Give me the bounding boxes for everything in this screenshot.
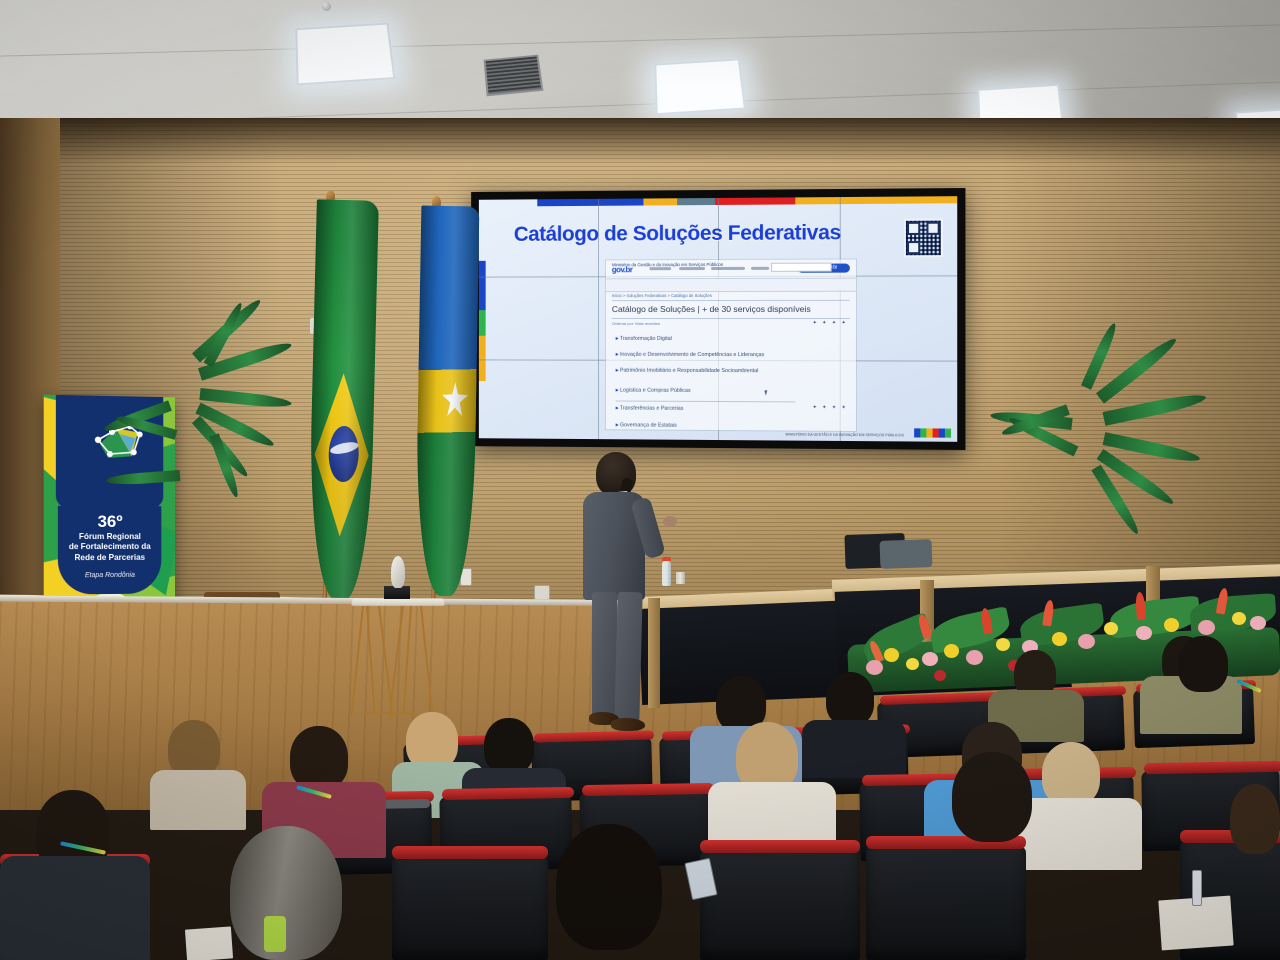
flower-yellow bbox=[1052, 632, 1067, 646]
site-search-input[interactable] bbox=[771, 262, 832, 271]
ministry-footer-logo: MINISTÉRIO DA GESTÃO E DA INOVAÇÃO EM SE… bbox=[785, 432, 903, 437]
slide-border-red bbox=[715, 197, 795, 205]
seat bbox=[700, 850, 860, 960]
flower-yellow bbox=[1104, 622, 1118, 635]
seat-rail bbox=[700, 840, 860, 853]
seat-rail bbox=[442, 787, 574, 800]
banner-text-panel: 36º Fórum Regional de Fortalecimento da … bbox=[58, 506, 161, 595]
flower-yellow bbox=[884, 648, 899, 662]
divider bbox=[612, 300, 850, 301]
banner-title-line3: Rede de Parcerias bbox=[58, 552, 161, 563]
presenter-hand bbox=[663, 516, 677, 527]
auditorium-photo: Catálogo de Soluções Federativas gov.br … bbox=[0, 0, 1280, 960]
seat-rail bbox=[1144, 761, 1280, 774]
flower-yellow bbox=[1164, 618, 1179, 632]
attendee-body bbox=[1018, 798, 1142, 870]
flag-rondonia bbox=[415, 206, 480, 597]
side-table-top bbox=[351, 598, 444, 605]
table-leg bbox=[648, 598, 660, 708]
attendee-body bbox=[0, 856, 150, 960]
flower-yellow bbox=[944, 644, 959, 658]
slide-title: Catálogo de Soluções Federativas bbox=[514, 221, 913, 247]
slide-edge-blue bbox=[479, 261, 486, 310]
breadcrumb: Início > Soluções Federativas > Catálogo… bbox=[612, 293, 712, 298]
ministry-subbar bbox=[606, 278, 856, 293]
attendee-head bbox=[556, 824, 662, 950]
divider bbox=[616, 400, 796, 402]
share-icons[interactable]: ✦ ✦ ✦ ✦ bbox=[813, 320, 848, 326]
ceiling-light bbox=[654, 59, 746, 116]
water-bottle bbox=[662, 561, 671, 586]
slide-border-grey bbox=[677, 198, 715, 205]
flag-brazil bbox=[307, 199, 379, 600]
attendee-head bbox=[230, 826, 342, 960]
solution-item[interactable]: ▸ Transferências e Parcerias bbox=[616, 405, 684, 411]
flower-red bbox=[934, 670, 946, 681]
hair-clip bbox=[264, 916, 286, 952]
attendee-head bbox=[484, 718, 534, 774]
chair-seat bbox=[880, 539, 933, 569]
flower-pink bbox=[1136, 626, 1152, 640]
flower-pink bbox=[922, 652, 938, 666]
nav-placeholder bbox=[649, 267, 671, 270]
attendee-head bbox=[1042, 742, 1100, 806]
sprinkler-icon bbox=[322, 2, 331, 11]
browser-screenshot: gov.br Entre com gov.br Ministério da Ge… bbox=[606, 259, 856, 430]
nav-placeholder bbox=[679, 267, 705, 270]
share-icons-bottom[interactable]: ✦ ✦ ✦ ✦ bbox=[813, 405, 848, 411]
flower-pink bbox=[866, 660, 883, 675]
catalog-heading: Catálogo de Soluções | + de 30 serviços … bbox=[612, 304, 811, 314]
flower-yellow bbox=[906, 658, 919, 670]
brasil-logo bbox=[914, 428, 951, 437]
seat bbox=[866, 846, 1026, 960]
seat-rail bbox=[582, 783, 714, 796]
slide-border-yellow bbox=[795, 196, 957, 204]
nav-placeholder bbox=[751, 267, 769, 270]
solution-item[interactable]: ▸ Transformação Digital bbox=[616, 336, 672, 342]
flower-pink bbox=[966, 650, 983, 665]
qr-code-icon bbox=[904, 219, 943, 258]
banner-title-line1: Fórum Regional bbox=[58, 532, 161, 542]
banner-edition-number: 36º bbox=[58, 512, 161, 532]
mouse-cursor-icon bbox=[764, 390, 768, 396]
attendee-head bbox=[1178, 636, 1228, 692]
handout-paper bbox=[185, 926, 233, 960]
attendee-head bbox=[1230, 784, 1280, 854]
solution-item[interactable]: ▸ Inovação e Desenvolvimento de Competên… bbox=[616, 352, 765, 358]
ministry-name: Ministério da Gestão e da Inovação em Se… bbox=[612, 262, 723, 267]
attendee-head bbox=[290, 726, 348, 790]
wall-outlet bbox=[534, 585, 550, 600]
banner-stage-label: Etapa Rondônia bbox=[58, 572, 161, 580]
flower-pink bbox=[1198, 620, 1215, 635]
wall-upper-shadow bbox=[0, 118, 1280, 164]
attendee-head bbox=[826, 672, 874, 726]
slide-edge-green bbox=[479, 310, 486, 336]
presentation-slide: Catálogo de Soluções Federativas gov.br … bbox=[479, 196, 957, 442]
nav-placeholder bbox=[711, 267, 745, 270]
drinking-glass bbox=[676, 572, 685, 584]
banner-title-line2: de Fortalecimento da bbox=[58, 542, 161, 552]
banner-title: Fórum Regional de Fortalecimento da Rede… bbox=[58, 532, 161, 563]
flower-yellow bbox=[996, 638, 1010, 651]
slide-border-yellow bbox=[643, 198, 677, 205]
flower-yellow bbox=[1232, 612, 1246, 625]
attendee-body bbox=[802, 720, 906, 778]
flower-pink bbox=[1078, 634, 1095, 649]
filter-label[interactable]: Ordenar por: Mais recentes bbox=[612, 321, 660, 326]
flower-pink bbox=[1250, 616, 1266, 630]
ceiling-light bbox=[295, 23, 395, 86]
solution-item[interactable]: ▸ Logística e Compras Públicas bbox=[616, 388, 691, 394]
divider bbox=[612, 318, 850, 319]
attendee-head bbox=[952, 752, 1032, 842]
solution-item[interactable]: ▸ Governança de Estatais bbox=[616, 422, 677, 428]
solution-item[interactable]: ▸ Patrimônio Imobiliário e Responsabilid… bbox=[616, 368, 759, 374]
attendee-body bbox=[150, 770, 246, 830]
slide-border-blue bbox=[537, 199, 643, 207]
seat-rail bbox=[392, 846, 548, 859]
seat bbox=[392, 856, 548, 960]
trophy bbox=[391, 556, 405, 588]
pen bbox=[1192, 870, 1202, 906]
video-wall[interactable]: Catálogo de Soluções Federativas gov.br … bbox=[471, 188, 965, 450]
bottle-cap bbox=[662, 557, 671, 561]
air-vent bbox=[484, 55, 544, 97]
